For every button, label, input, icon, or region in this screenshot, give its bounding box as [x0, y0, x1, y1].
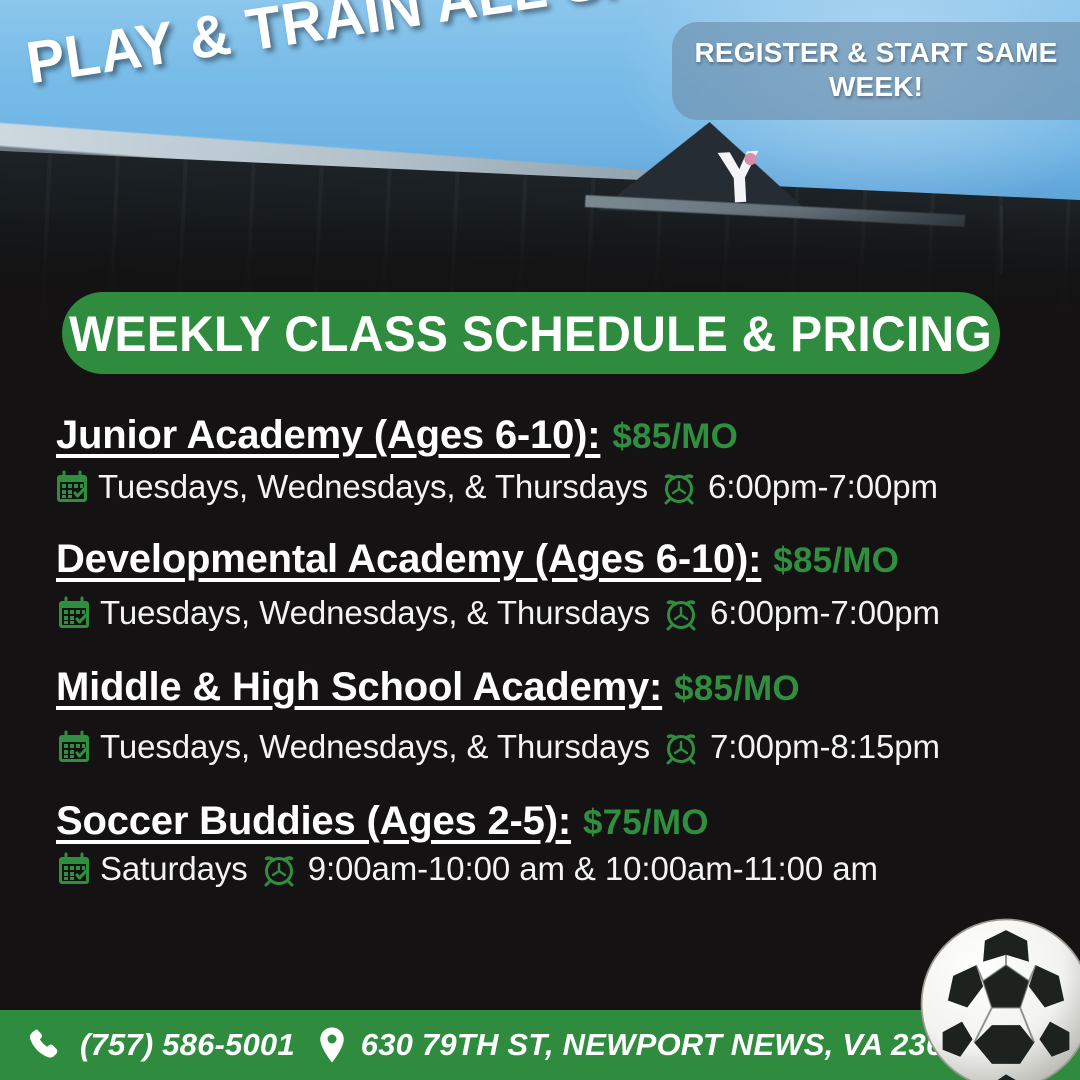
schedule-title-banner: WEEKLY CLASS SCHEDULE & PRICING [62, 292, 1000, 374]
program-item: Junior Academy (Ages 6-10):$85/MO Tuesda… [0, 414, 1080, 506]
program-heading: Soccer Buddies (Ages 2-5):$75/MO [56, 800, 1080, 842]
alarm-clock-icon [662, 728, 700, 766]
program-name: Developmental Academy (Ages 6-10): [56, 537, 761, 581]
flyer-canvas: PLAY & TRAIN ALL SPRING! REGISTER & STAR… [0, 0, 1080, 1080]
program-list: Junior Academy (Ages 6-10):$85/MO Tuesda… [0, 414, 1080, 888]
program-details: Saturdays 9:00am-10:00 am & 10:00am-11:0… [56, 850, 1080, 888]
program-details: Tuesdays, Wednesdays, & Thursdays 6:00pm… [54, 468, 1080, 506]
program-name: Junior Academy (Ages 6-10): [56, 413, 600, 457]
program-heading: Developmental Academy (Ages 6-10):$85/MO [56, 538, 1080, 580]
page-title: WEEKLY CLASS SCHEDULE & PRICING [69, 304, 992, 362]
program-time: 9:00am-10:00 am & 10:00am-11:00 am [308, 850, 878, 888]
program-name: Middle & High School Academy: [56, 665, 662, 709]
program-details: Tuesdays, Wednesdays, & Thursdays 6:00pm… [56, 594, 1080, 632]
program-item: Middle & High School Academy:$85/MO Tues… [0, 666, 1080, 766]
program-name: Soccer Buddies (Ages 2-5): [56, 799, 571, 843]
program-item: Developmental Academy (Ages 6-10):$85/MO… [0, 538, 1080, 632]
program-price: $85/MO [674, 669, 800, 708]
soccer-ball-icon [918, 916, 1080, 1080]
calendar-icon [56, 595, 92, 631]
register-badge: REGISTER & START SAME WEEK! [672, 22, 1080, 120]
program-time: 6:00pm-7:00pm [710, 594, 940, 632]
program-time: 6:00pm-7:00pm [708, 468, 938, 506]
calendar-icon [56, 729, 92, 765]
program-heading: Middle & High School Academy:$85/MO [56, 666, 1080, 708]
calendar-icon [56, 851, 92, 887]
address-text[interactable]: 630 79TH ST, NEWPORT NEWS, VA 23605 [361, 1027, 978, 1063]
program-price: $85/MO [612, 417, 738, 456]
program-days: Tuesdays, Wednesdays, & Thursdays [100, 728, 650, 766]
calendar-icon [54, 469, 90, 505]
program-item: Soccer Buddies (Ages 2-5):$75/MO Saturda… [0, 800, 1080, 888]
program-details: Tuesdays, Wednesdays, & Thursdays 7:00pm… [56, 728, 1080, 766]
program-price: $75/MO [583, 803, 709, 842]
map-pin-icon [317, 1026, 347, 1064]
contact-row: (757) 586-5001 630 79TH ST, NEWPORT NEWS… [0, 1026, 978, 1064]
alarm-clock-icon [662, 594, 700, 632]
program-price: $85/MO [773, 541, 899, 580]
phone-number[interactable]: (757) 586-5001 [80, 1027, 295, 1063]
x-logo-icon [711, 148, 764, 207]
alarm-clock-icon [660, 468, 698, 506]
program-time: 7:00pm-8:15pm [710, 728, 940, 766]
program-days: Saturdays [100, 850, 248, 888]
program-days: Tuesdays, Wednesdays, & Thursdays [98, 468, 648, 506]
program-days: Tuesdays, Wednesdays, & Thursdays [100, 594, 650, 632]
alarm-clock-icon [260, 850, 298, 888]
program-heading: Junior Academy (Ages 6-10):$85/MO [56, 414, 1080, 456]
phone-icon [26, 1026, 64, 1064]
